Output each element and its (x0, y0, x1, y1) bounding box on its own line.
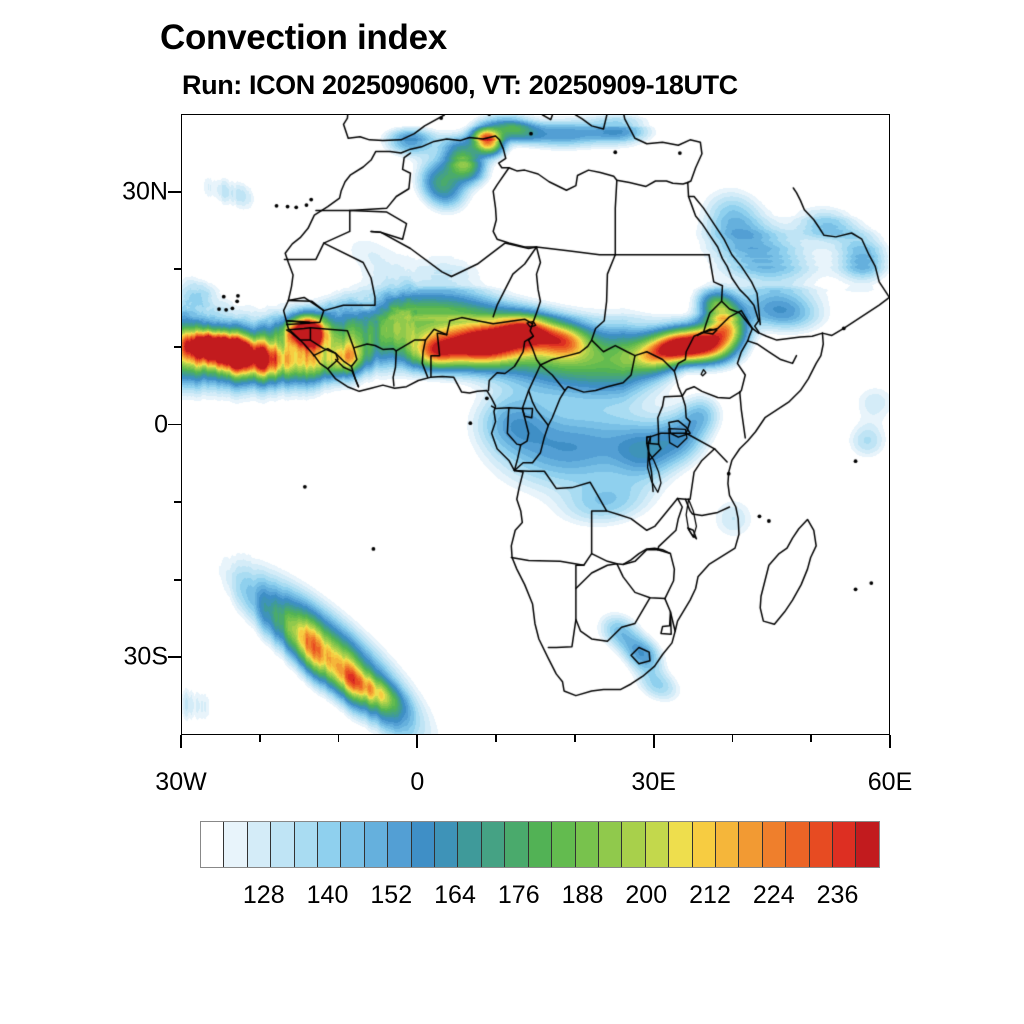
colorbar-tick-label: 164 (434, 881, 476, 910)
y-major-tick (168, 191, 181, 193)
colorbar-tick-label: 200 (625, 881, 667, 910)
colorbar-cell (388, 822, 411, 867)
colorbar-cell (810, 822, 833, 867)
colorbar[interactable] (200, 821, 880, 868)
y-axis-label: 30N (90, 177, 168, 206)
colorbar-cell (412, 822, 435, 867)
y-major-tick (168, 656, 181, 658)
x-major-tick (653, 735, 655, 748)
colorbar-cell (622, 822, 645, 867)
colorbar-cell (763, 822, 786, 867)
colorbar-tick-label: 212 (689, 881, 731, 910)
colorbar-cell (856, 822, 878, 867)
y-axis-label: 30S (90, 643, 168, 672)
colorbar-tick-label: 236 (817, 881, 859, 910)
x-minor-tick (574, 735, 576, 742)
x-major-tick (889, 735, 891, 748)
y-minor-tick (174, 268, 181, 270)
colorbar-cell (669, 822, 692, 867)
colorbar-cell (599, 822, 622, 867)
page-title: Convection index (160, 18, 447, 58)
run-valid-time: Run: ICON 2025090600, VT: 20250909-18UTC (182, 70, 738, 101)
colorbar-cell (482, 822, 505, 867)
x-minor-tick (810, 735, 812, 742)
country-borders-overlay (182, 115, 890, 735)
x-minor-tick (732, 735, 734, 742)
y-axis-label: 0 (90, 410, 168, 439)
colorbar-cell (365, 822, 388, 867)
colorbar-cell (646, 822, 669, 867)
colorbar-cell (458, 822, 481, 867)
x-major-tick (416, 735, 418, 748)
colorbar-cell (295, 822, 318, 867)
colorbar-tick-labels: 128140152164176188200212224236 (0, 881, 1024, 921)
x-minor-tick (338, 735, 340, 742)
x-major-tick (180, 735, 182, 748)
colorbar-cell (739, 822, 762, 867)
y-minor-tick (174, 346, 181, 348)
colorbar-cell (224, 822, 247, 867)
colorbar-cell (201, 822, 224, 867)
x-axis-label: 60E (868, 768, 912, 797)
colorbar-cell (435, 822, 458, 867)
y-major-tick (168, 424, 181, 426)
colorbar-tick-label: 140 (307, 881, 349, 910)
colorbar-tick-label: 152 (370, 881, 412, 910)
colorbar-cell (552, 822, 575, 867)
colorbar-cell (529, 822, 552, 867)
colorbar-cell (576, 822, 599, 867)
x-axis-label: 0 (410, 768, 424, 797)
x-axis-label: 30E (631, 768, 675, 797)
x-axis-label: 30W (155, 768, 206, 797)
y-minor-tick (174, 501, 181, 503)
colorbar-tick-label: 128 (243, 881, 285, 910)
colorbar-cell (271, 822, 294, 867)
x-minor-tick (259, 735, 261, 742)
colorbar-cell (505, 822, 528, 867)
colorbar-tick-label: 188 (562, 881, 604, 910)
map-plot-area[interactable] (181, 114, 890, 735)
colorbar-cell (318, 822, 341, 867)
colorbar-cell (833, 822, 856, 867)
colorbar-cell (248, 822, 271, 867)
x-minor-tick (495, 735, 497, 742)
colorbar-cell (693, 822, 716, 867)
colorbar-cell (341, 822, 364, 867)
colorbar-cell (786, 822, 809, 867)
colorbar-tick-label: 176 (498, 881, 540, 910)
y-minor-tick (174, 579, 181, 581)
colorbar-cell (716, 822, 739, 867)
colorbar-tick-label: 224 (753, 881, 795, 910)
